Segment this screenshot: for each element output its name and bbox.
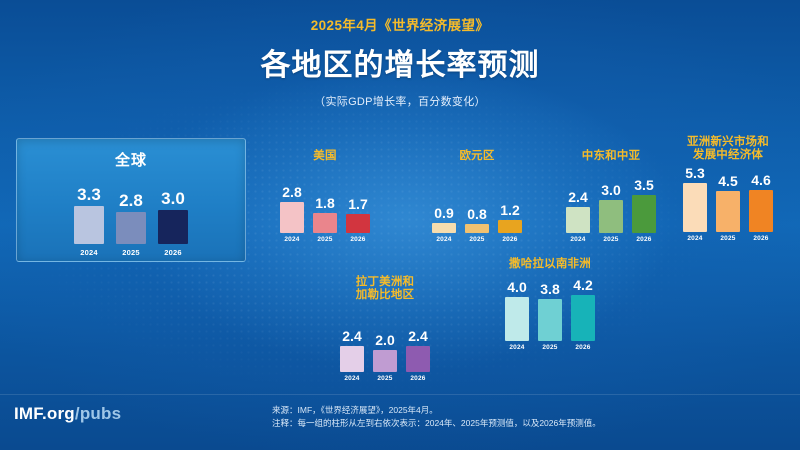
bar-category-label: 2024 (436, 236, 451, 243)
bar-item: 4.52025 (716, 174, 740, 242)
bar-value-label: 3.5 (634, 178, 653, 192)
bar-group: 2.420242.020252.42026 (330, 310, 440, 382)
bar (74, 206, 104, 244)
bar-group: 5.320244.520254.62026 (668, 170, 788, 242)
bar-category-label: 2026 (575, 344, 590, 351)
footer-divider (0, 394, 800, 395)
bar (749, 190, 773, 232)
bar-category-label: 2025 (317, 236, 332, 243)
bar-item: 3.02025 (599, 183, 623, 243)
bar-item: 2.42026 (406, 329, 430, 382)
bar-value-label: 2.0 (375, 333, 394, 347)
bar (716, 191, 740, 232)
bar (683, 183, 707, 232)
bar-value-label: 0.8 (467, 207, 486, 221)
bar (498, 220, 522, 233)
group-title: 亚洲新兴市场和发展中经济体 (668, 136, 788, 162)
logo-sub: /pubs (75, 404, 121, 423)
bar-item: 0.92024 (432, 206, 456, 243)
bar-item: 1.82025 (313, 196, 337, 243)
group-emerging-asia: 亚洲新兴市场和发展中经济体5.320244.520254.62026 (668, 136, 788, 242)
page-title: 各地区的增长率预测 (0, 40, 800, 84)
bar (158, 210, 188, 245)
bar-value-label: 2.8 (282, 185, 301, 199)
bar (340, 346, 364, 372)
bar-item: 2.02025 (373, 333, 397, 382)
bar-item: 3.32024 (74, 188, 104, 257)
bar-category-label: 2026 (636, 236, 651, 243)
group-title: 中东和中亚 (556, 150, 666, 163)
bar (406, 346, 430, 372)
bar-value-label: 4.0 (507, 280, 526, 294)
group-title: 拉丁美洲和加勒比地区 (330, 276, 440, 302)
group-latin-america-caribbean: 拉丁美洲和加勒比地区2.420242.020252.42026 (330, 276, 440, 382)
bar (313, 213, 337, 233)
bar-item: 3.82025 (538, 282, 562, 351)
bar (432, 223, 456, 233)
bar-value-label: 4.2 (573, 278, 592, 292)
bar-item: 4.62026 (749, 173, 773, 242)
bar-value-label: 0.9 (434, 206, 453, 220)
bar-category-label: 2026 (753, 235, 768, 242)
group-title-line2: 发展中经济体 (668, 149, 788, 162)
group-title-line1: 拉丁美洲和 (330, 276, 440, 289)
footnotes: 来源：IMF，《世界经济展望》，2025年4月。 注释：每一组的柱形从左到右依次… (272, 404, 702, 430)
group-title-line2: 加勒比地区 (330, 289, 440, 302)
bar-value-label: 2.8 (119, 194, 143, 208)
bar-group: 4.020243.820254.22026 (490, 279, 610, 351)
imf-logo[interactable]: IMF.org/pubs (14, 404, 121, 424)
group-united-states: 美国2.820241.820251.72026 (270, 150, 380, 243)
bar-category-label: 2026 (164, 248, 182, 257)
bar-category-label: 2024 (284, 236, 299, 243)
bar-category-label: 2025 (469, 236, 484, 243)
bar-category-label: 2024 (509, 344, 524, 351)
bar-item: 1.72026 (346, 197, 370, 243)
bar-value-label: 3.8 (540, 282, 559, 296)
group-title: 撒哈拉以南非洲 (490, 258, 610, 271)
bar-item: 5.32024 (683, 166, 707, 242)
bar-value-label: 3.3 (77, 188, 101, 202)
group-middle-east-central-asia: 中东和中亚2.420243.020253.52026 (556, 150, 666, 243)
bar-category-label: 2026 (350, 236, 365, 243)
source-note: 来源：IMF，《世界经济展望》，2025年4月。 (272, 404, 702, 417)
bar-category-label: 2025 (122, 248, 140, 257)
bar (116, 212, 146, 244)
bar-item: 3.52026 (632, 178, 656, 244)
bar-item: 3.02026 (158, 192, 188, 258)
bar-item: 4.02024 (505, 280, 529, 351)
global-bar-group: 3.320242.820253.02026 (17, 177, 245, 257)
bar-category-label: 2025 (603, 236, 618, 243)
bar (571, 295, 595, 341)
bar-value-label: 1.7 (348, 197, 367, 211)
slide-canvas: 2025年4月《世界经济展望》 各地区的增长率预测 （实际GDP增长率，百分数变… (0, 0, 800, 450)
group-title-line1: 亚洲新兴市场和 (668, 136, 788, 149)
bar-value-label: 3.0 (161, 192, 185, 206)
bar-group: 0.920240.820251.22026 (418, 171, 536, 243)
bar-value-label: 4.6 (751, 173, 770, 187)
bar-value-label: 1.2 (500, 203, 519, 217)
group-title: 美国 (270, 150, 380, 163)
bar-item: 0.82025 (465, 207, 489, 243)
bar-category-label: 2024 (344, 375, 359, 382)
bar-item: 4.22026 (571, 278, 595, 351)
bar-value-label: 2.4 (342, 329, 361, 343)
bar-category-label: 2024 (570, 236, 585, 243)
bar-category-label: 2025 (377, 375, 392, 382)
bar-category-label: 2024 (687, 235, 702, 242)
bar-item: 2.42024 (566, 190, 590, 243)
report-kicker: 2025年4月《世界经济展望》 (0, 14, 800, 34)
bar (599, 200, 623, 233)
bar-item: 1.22026 (498, 203, 522, 243)
header: 2025年4月《世界经济展望》 各地区的增长率预测 （实际GDP增长率，百分数变… (0, 14, 800, 109)
group-title: 欧元区 (418, 150, 536, 163)
bar-item: 2.42024 (340, 329, 364, 382)
bar-item: 2.82025 (116, 194, 146, 257)
page-subtitle: （实际GDP增长率，百分数变化） (0, 93, 800, 109)
bar-category-label: 2026 (410, 375, 425, 382)
bar-value-label: 2.4 (408, 329, 427, 343)
bar (505, 297, 529, 341)
bar (538, 299, 562, 341)
bar (632, 195, 656, 234)
bar-value-label: 1.8 (315, 196, 334, 210)
global-group-title: 全球 (17, 149, 245, 170)
bar (346, 214, 370, 233)
bar (566, 207, 590, 233)
bar-value-label: 4.5 (718, 174, 737, 188)
logo-main: IMF.org (14, 404, 75, 423)
bar-group: 2.420243.020253.52026 (556, 171, 666, 243)
bar-value-label: 3.0 (601, 183, 620, 197)
bar (373, 350, 397, 372)
bar (280, 202, 304, 233)
bar-value-label: 2.4 (568, 190, 587, 204)
group-sub-saharan-africa: 撒哈拉以南非洲4.020243.820254.22026 (490, 258, 610, 351)
global-panel: 全球 3.320242.820253.02026 (16, 138, 246, 262)
group-euro-area: 欧元区0.920240.820251.22026 (418, 150, 536, 243)
bar-group: 2.820241.820251.72026 (270, 171, 380, 243)
bar-category-label: 2026 (502, 236, 517, 243)
bar (465, 224, 489, 233)
bar-value-label: 5.3 (685, 166, 704, 180)
bar-category-label: 2025 (720, 235, 735, 242)
bar-category-label: 2024 (80, 248, 98, 257)
bar-category-label: 2025 (542, 344, 557, 351)
method-note: 注释：每一组的柱形从左到右依次表示：2024年、2025年预测值，以及2026年… (272, 417, 702, 430)
bar-item: 2.82024 (280, 185, 304, 243)
